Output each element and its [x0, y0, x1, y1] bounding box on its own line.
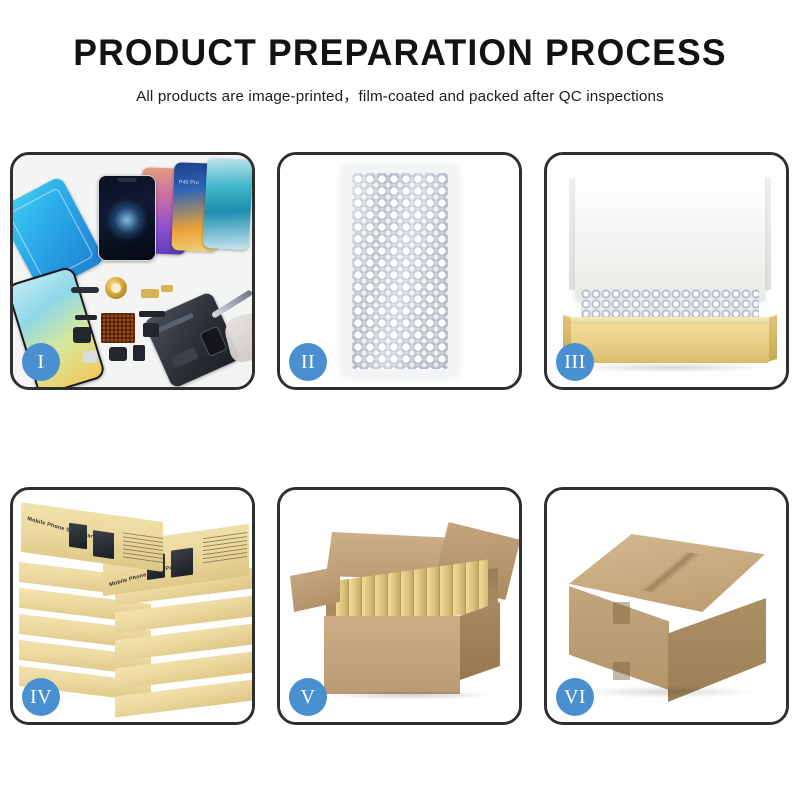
- step-badge-4: IV: [22, 678, 60, 716]
- process-step-3: III: [544, 152, 789, 390]
- step-badge-5: V: [289, 678, 327, 716]
- earpiece-speaker-part: [71, 287, 99, 293]
- camera-module-part: [109, 347, 127, 361]
- box-stack: Mobile Phone Spare Parts Mobile Phone Sp…: [19, 512, 252, 708]
- carton-handle-tab-bottom: [613, 662, 630, 680]
- step-badge-1: I: [22, 343, 60, 381]
- flex-cable-part-1: [75, 315, 97, 320]
- carton-shadow: [326, 690, 496, 700]
- product-preparation-infographic: PRODUCT PREPARATION PROCESS All products…: [0, 0, 800, 800]
- teal-phone-screen: [203, 158, 252, 250]
- process-step-grid: P40 Pro: [10, 152, 790, 725]
- kraft-box-front: [571, 321, 769, 363]
- kraft-box-rim: [571, 317, 769, 324]
- black-glass-screen: [98, 175, 156, 261]
- gold-contact-part-2: [161, 285, 173, 292]
- copper-grid-part: [101, 313, 135, 343]
- step-badge-2: II: [289, 343, 327, 381]
- process-step-4: Mobile Phone Spare Parts Mobile Phone Sp…: [10, 487, 255, 725]
- flex-cable-part-3: [139, 311, 165, 317]
- page-subtitle: All products are image-printed，film-coat…: [0, 84, 800, 106]
- phone-model-label: P40 Pro: [179, 179, 199, 186]
- header: PRODUCT PREPARATION PROCESS All products…: [0, 0, 800, 106]
- process-step-5: V: [277, 487, 522, 725]
- page-title: PRODUCT PREPARATION PROCESS: [16, 34, 784, 73]
- carton-front-face: [324, 616, 460, 694]
- process-step-6: VI: [544, 487, 789, 725]
- white-box-lid: [575, 173, 765, 301]
- sim-tray-part: [83, 351, 97, 363]
- connector-part-1: [143, 323, 159, 337]
- process-step-2: II: [277, 152, 522, 390]
- carton-shadow: [581, 686, 757, 698]
- process-step-1: P40 Pro: [10, 152, 255, 390]
- printed-box-top-1: Mobile Phone Spare Parts: [21, 502, 163, 572]
- step-badge-3: III: [556, 343, 594, 381]
- carton-handle-tab-top: [613, 602, 630, 624]
- gold-contact-part: [141, 289, 159, 298]
- connector-part-2: [133, 345, 145, 361]
- vibration-coil-part: [105, 277, 127, 299]
- bubble-wrap-sleeve: [352, 173, 448, 369]
- box-shadow: [577, 363, 763, 372]
- flex-cable-part-2: [73, 327, 91, 343]
- step-badge-6: VI: [556, 678, 594, 716]
